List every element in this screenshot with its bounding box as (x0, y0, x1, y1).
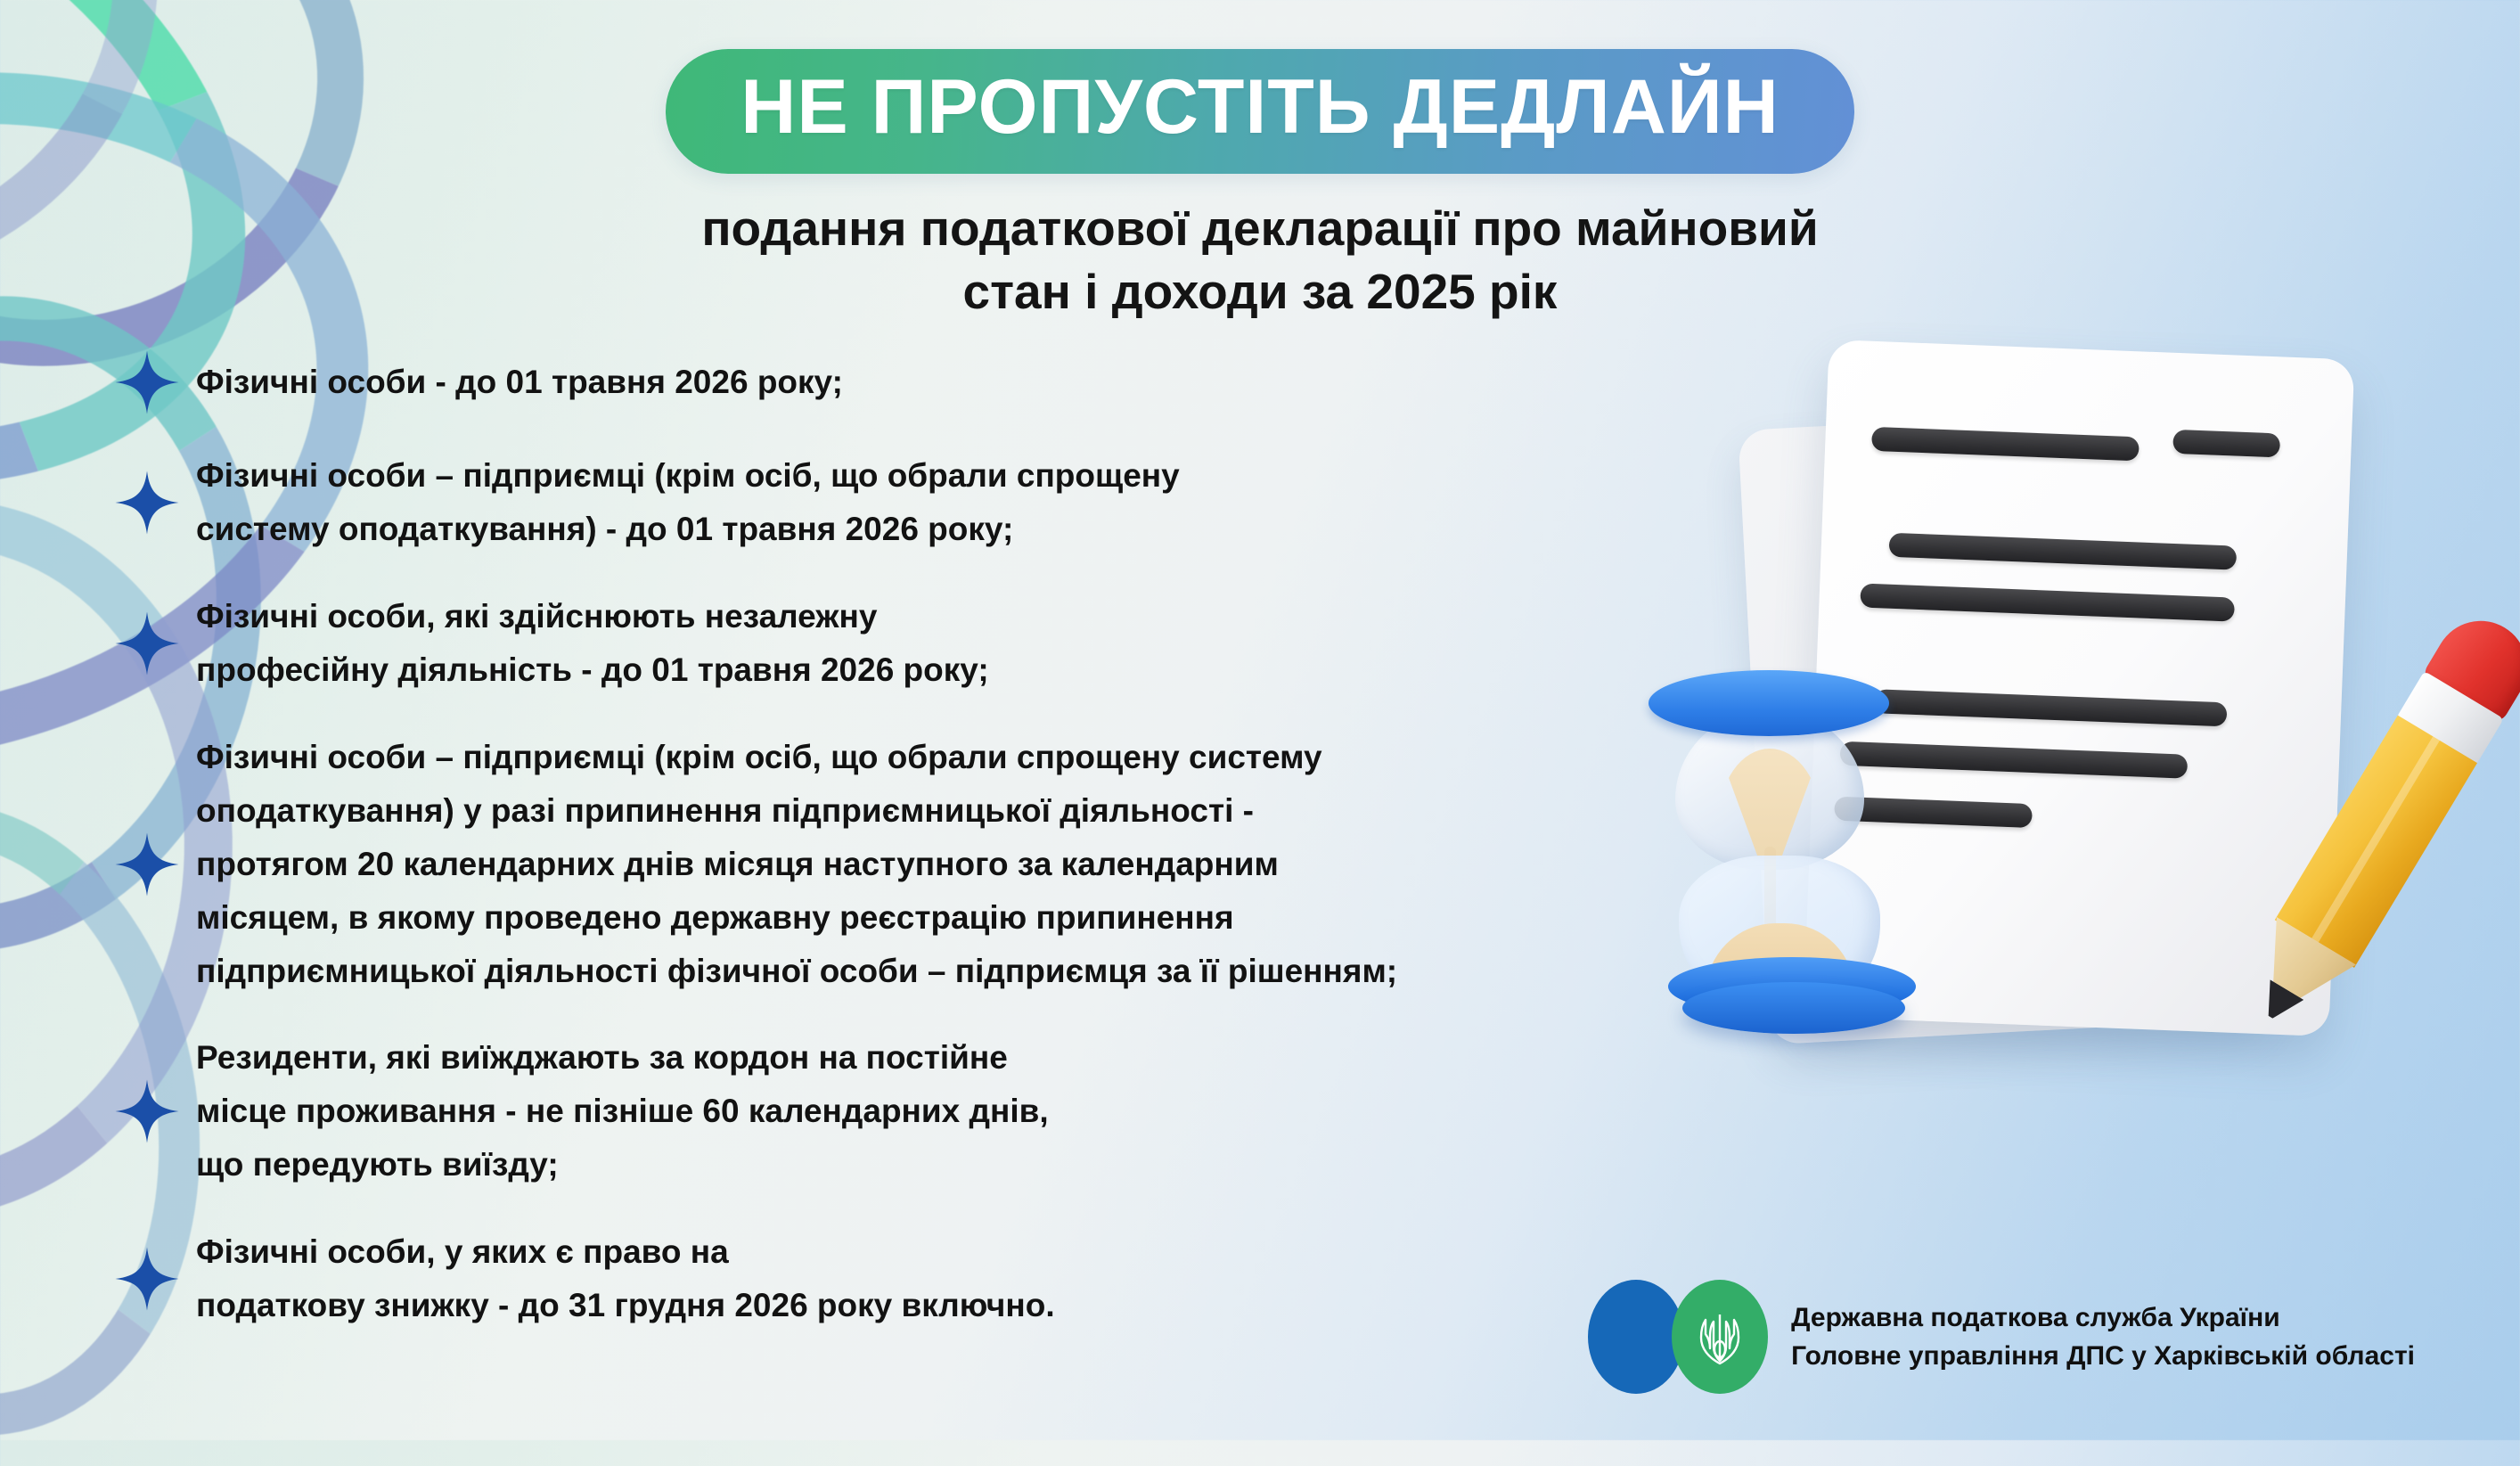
footer-line-2: Головне управління ДПС у Харківській обл… (1791, 1337, 2415, 1375)
document-text-line (1860, 584, 2235, 622)
page-subtitle: подання податкової декларації про майнов… (476, 197, 2044, 324)
hourglass-cap-top (1649, 670, 1889, 736)
four-point-star-icon (114, 1078, 180, 1144)
list-item-text: Фізичні особи - до 01 травня 2026 року; (196, 356, 843, 409)
list-item: Фізичні особи – підприємці (крім осіб, щ… (114, 449, 1682, 556)
list-item: Фізичні особи – підприємці (крім осіб, щ… (114, 731, 1682, 998)
document-text-line (1888, 533, 2237, 570)
hourglass-cap-bottom-inner (1682, 982, 1905, 1034)
list-item: Резиденти, які виїжджають за кордон на п… (114, 1031, 1682, 1192)
dps-logo-blue-circle (1588, 1280, 1684, 1394)
document-text-line (1871, 427, 2140, 461)
hourglass-icon (1641, 663, 1935, 1046)
page-title: НЕ ПРОПУСТІТЬ ДЕДЛАЙН (740, 69, 1780, 147)
footer-logo-block: Державна податкова служба України Головн… (1588, 1280, 2415, 1394)
list-item-text: Резиденти, які виїжджають за кордон на п… (196, 1031, 1049, 1192)
four-point-star-icon (114, 470, 180, 536)
list-item-text: Фізичні особи, у яких є право на податко… (196, 1225, 1055, 1332)
title-banner: НЕ ПРОПУСТІТЬ ДЕДЛАЙН (666, 49, 1854, 174)
header: НЕ ПРОПУСТІТЬ ДЕДЛАЙН подання податкової… (0, 0, 2520, 324)
trident-icon (1697, 1307, 1743, 1366)
list-item-text: Фізичні особи – підприємці (крім осіб, щ… (196, 449, 1180, 556)
footer-line-1: Державна податкова служба України (1791, 1298, 2415, 1337)
list-item: Фізичні особи - до 01 травня 2026 року; (114, 349, 1682, 415)
list-item: Фізичні особи, у яких є право на податко… (114, 1225, 1682, 1332)
list-item-text: Фізичні особи, які здійснюють незалежну … (196, 590, 989, 697)
four-point-star-icon (114, 349, 180, 415)
list-item: Фізичні особи, які здійснюють незалежну … (114, 590, 1682, 697)
document-hourglass-pencil-illustration (1649, 332, 2442, 1116)
subtitle-line-1: подання податкової декларації про майнов… (476, 197, 2044, 261)
four-point-star-icon (114, 1246, 180, 1312)
dps-logo-green-circle-trident (1672, 1280, 1768, 1394)
subtitle-line-2: стан і доходи за 2025 рік (476, 260, 2044, 324)
footer-text: Державна податкова служба України Головн… (1791, 1298, 2415, 1375)
deadline-list: Фізичні особи - до 01 травня 2026 року; … (114, 349, 1682, 1366)
four-point-star-icon (114, 610, 180, 676)
list-item-text: Фізичні особи – підприємці (крім осіб, щ… (196, 731, 1397, 998)
four-point-star-icon (114, 831, 180, 897)
document-text-line (2172, 430, 2280, 458)
